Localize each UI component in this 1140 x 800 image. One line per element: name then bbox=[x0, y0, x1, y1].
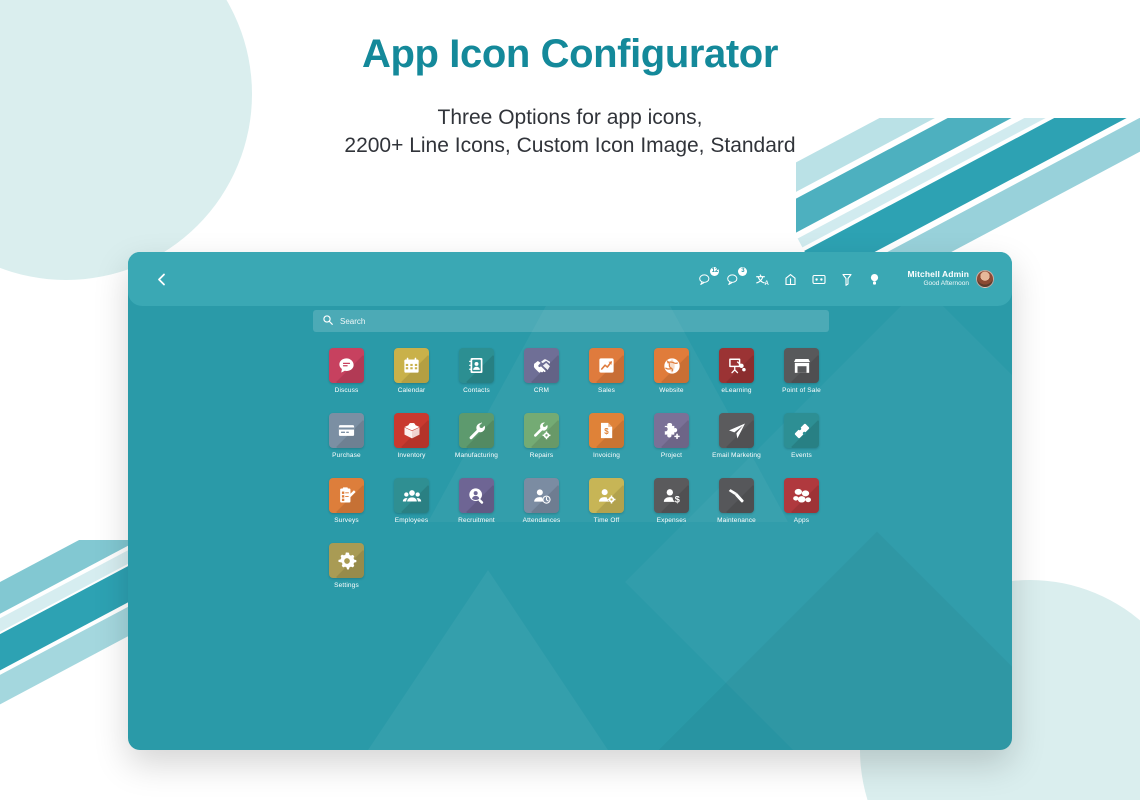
wrench-icon bbox=[459, 413, 494, 448]
app-icon-contacts[interactable]: Contacts bbox=[444, 348, 509, 394]
app-label: Repairs bbox=[530, 452, 553, 459]
shop-icon bbox=[784, 348, 819, 383]
app-label: Events bbox=[791, 452, 812, 459]
contact-card-icon bbox=[459, 348, 494, 383]
app-label: Inventory bbox=[397, 452, 425, 459]
gear-icon bbox=[329, 543, 364, 578]
app-icon-elearning[interactable]: eLearning bbox=[704, 348, 769, 394]
app-label: Purchase bbox=[332, 452, 361, 459]
app-icon-manufacturing[interactable]: Manufacturing bbox=[444, 413, 509, 459]
user-text: Mitchell Admin Good Afternoon bbox=[907, 270, 969, 287]
app-icon-apps[interactable]: Apps bbox=[769, 478, 834, 524]
invoice-dollar-icon: $ bbox=[589, 413, 624, 448]
app-label: Attendances bbox=[523, 517, 561, 524]
debug-icon[interactable] bbox=[839, 272, 854, 287]
subtitle-line-1: Three Options for app icons, bbox=[0, 104, 1140, 132]
app-icon-maintenance[interactable]: Maintenance bbox=[704, 478, 769, 524]
app-label: Apps bbox=[794, 517, 809, 524]
app-icon-crm[interactable]: CRM bbox=[509, 348, 574, 394]
app-icon-attendances[interactable]: Attendances bbox=[509, 478, 574, 524]
app-icon-point-of-sale[interactable]: Point of Sale bbox=[769, 348, 834, 394]
magnifier-person-icon bbox=[459, 478, 494, 513]
app-icon-inventory[interactable]: Inventory bbox=[379, 413, 444, 459]
page-subtitle: Three Options for app icons, 2200+ Line … bbox=[0, 104, 1140, 160]
back-chevron-icon[interactable] bbox=[150, 268, 172, 290]
activities-badge: 3 bbox=[738, 267, 747, 276]
app-icon-surveys[interactable]: Surveys bbox=[314, 478, 379, 524]
hammer-icon bbox=[719, 478, 754, 513]
app-label: Calendar bbox=[398, 387, 426, 394]
messages-badge: 12 bbox=[710, 267, 719, 276]
app-icon-email-marketing[interactable]: Email Marketing bbox=[704, 413, 769, 459]
app-icon-time-off[interactable]: Time Off bbox=[574, 478, 639, 524]
app-label: Surveys bbox=[334, 517, 359, 524]
user-name: Mitchell Admin bbox=[907, 270, 969, 280]
calendar-icon bbox=[394, 348, 429, 383]
ticket-icon bbox=[784, 413, 819, 448]
systray: 12 3 文 A bbox=[699, 270, 994, 288]
app-icon-website[interactable]: Website bbox=[639, 348, 704, 394]
app-label: Maintenance bbox=[717, 517, 756, 524]
open-box-icon bbox=[394, 413, 429, 448]
poster-canvas: App Icon Configurator Three Options for … bbox=[0, 0, 1140, 800]
app-icon-purchase[interactable]: Purchase bbox=[314, 413, 379, 459]
window-bg-triangle-bottom bbox=[268, 570, 708, 750]
app-icon-discuss[interactable]: Discuss bbox=[314, 348, 379, 394]
blocks-icon bbox=[784, 478, 819, 513]
page-title: App Icon Configurator bbox=[0, 32, 1140, 77]
enterprise-icon[interactable] bbox=[783, 272, 798, 287]
paper-plane-icon bbox=[719, 413, 754, 448]
app-label: Website bbox=[659, 387, 683, 394]
wrench-gear-icon bbox=[524, 413, 559, 448]
apps-switcher-icon[interactable] bbox=[811, 272, 826, 287]
handshake-icon bbox=[524, 348, 559, 383]
globe-icon bbox=[654, 348, 689, 383]
app-window: 12 3 文 A bbox=[128, 252, 1012, 750]
app-icon-settings[interactable]: Settings bbox=[314, 543, 379, 589]
search-icon bbox=[323, 312, 333, 330]
app-label: Expenses bbox=[657, 517, 687, 524]
app-label: Manufacturing bbox=[455, 452, 498, 459]
user-menu[interactable]: Mitchell Admin Good Afternoon bbox=[907, 270, 994, 288]
window-titlebar: 12 3 文 A bbox=[128, 252, 1012, 306]
whiteboard-icon bbox=[719, 348, 754, 383]
svg-text:$: $ bbox=[674, 494, 679, 504]
app-icon-sales[interactable]: Sales bbox=[574, 348, 639, 394]
app-icon-repairs[interactable]: Repairs bbox=[509, 413, 574, 459]
app-label: Employees bbox=[395, 517, 429, 524]
app-icon-project[interactable]: Project bbox=[639, 413, 704, 459]
activities-icon[interactable]: 3 bbox=[727, 272, 742, 287]
puzzle-plus-icon bbox=[654, 413, 689, 448]
app-icon-invoicing[interactable]: $Invoicing bbox=[574, 413, 639, 459]
svg-text:$: $ bbox=[604, 427, 609, 436]
app-grid: DiscussCalendarContactsCRMSalesWebsiteeL… bbox=[314, 348, 834, 589]
app-icon-employees[interactable]: Employees bbox=[379, 478, 444, 524]
svg-text:A: A bbox=[764, 281, 769, 286]
subtitle-line-2: 2200+ Line Icons, Custom Icon Image, Sta… bbox=[0, 132, 1140, 160]
app-label: Sales bbox=[598, 387, 615, 394]
person-clock-icon bbox=[524, 478, 559, 513]
app-icon-expenses[interactable]: $Expenses bbox=[639, 478, 704, 524]
translate-icon[interactable]: 文 A bbox=[755, 272, 770, 287]
app-label: Project bbox=[661, 452, 682, 459]
app-label: eLearning bbox=[721, 387, 751, 394]
person-dollar-icon: $ bbox=[654, 478, 689, 513]
search-input[interactable]: Search bbox=[313, 310, 829, 332]
search-placeholder: Search bbox=[340, 317, 365, 326]
app-label: Recruitment bbox=[458, 517, 495, 524]
app-label: CRM bbox=[534, 387, 549, 394]
app-icon-events[interactable]: Events bbox=[769, 413, 834, 459]
app-label: Time Off bbox=[594, 517, 620, 524]
credit-card-icon bbox=[329, 413, 364, 448]
clipboard-pen-icon bbox=[329, 478, 364, 513]
person-gear-icon bbox=[589, 478, 624, 513]
messages-icon[interactable]: 12 bbox=[699, 272, 714, 287]
tips-bulb-icon[interactable] bbox=[867, 272, 882, 287]
app-label: Discuss bbox=[335, 387, 359, 394]
app-label: Settings bbox=[334, 582, 359, 589]
avatar[interactable] bbox=[976, 270, 994, 288]
app-icon-recruitment[interactable]: Recruitment bbox=[444, 478, 509, 524]
app-label: Contacts bbox=[463, 387, 490, 394]
app-label: Point of Sale bbox=[782, 387, 821, 394]
people-icon bbox=[394, 478, 429, 513]
app-label: Email Marketing bbox=[712, 452, 761, 459]
app-label: Invoicing bbox=[593, 452, 620, 459]
app-icon-calendar[interactable]: Calendar bbox=[379, 348, 444, 394]
chat-bubble-icon bbox=[329, 348, 364, 383]
chart-up-icon bbox=[589, 348, 624, 383]
user-greeting: Good Afternoon bbox=[907, 280, 969, 287]
